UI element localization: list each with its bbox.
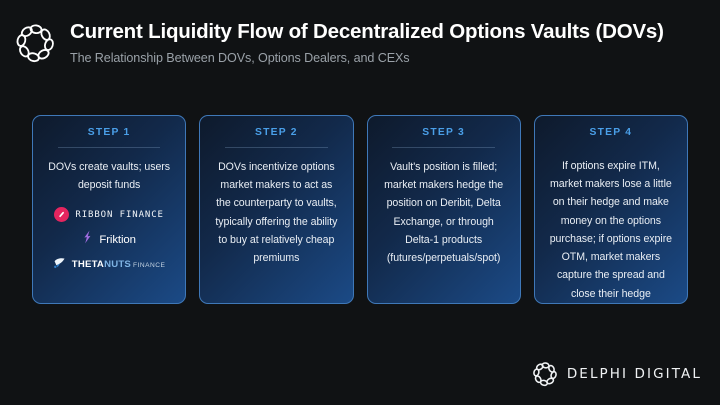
friktion-logo: Friktion	[82, 231, 136, 248]
step-body-text: DOVs create vaults; users deposit funds	[45, 158, 173, 194]
step-body-text: DOVs incentivize options market makers t…	[212, 158, 340, 267]
protocol-logo-list: RIBBON FINANCE Friktion	[45, 206, 173, 273]
ribbon-finance-label: RIBBON FINANCE	[75, 210, 163, 220]
thetanuts-label-bold: THETA	[72, 259, 104, 270]
page-subtitle: The Relationship Between DOVs, Options D…	[70, 51, 664, 65]
footer-brand: DELPHI DIGITAL	[533, 361, 702, 387]
step-card-4: STEP 4 If options expire ITM, market mak…	[534, 115, 688, 304]
page-header: Current Liquidity Flow of Decentralized …	[0, 0, 720, 92]
page-title: Current Liquidity Flow of Decentralized …	[70, 20, 664, 44]
step-card-1: STEP 1 DOVs create vaults; users deposit…	[32, 115, 186, 304]
header-text-block: Current Liquidity Flow of Decentralized …	[70, 18, 664, 65]
step-label: STEP 4	[589, 127, 632, 147]
card-divider	[392, 147, 495, 148]
footer-brand-label: DELPHI DIGITAL	[567, 366, 702, 382]
step-label: STEP 2	[255, 127, 298, 147]
step-card-2: STEP 2 DOVs incentivize options market m…	[199, 115, 353, 304]
friktion-label: Friktion	[99, 234, 136, 246]
step-body-text: Vault's position is filled; market maker…	[380, 158, 508, 267]
card-divider	[225, 147, 328, 148]
thetanuts-label: THETANUTSFINANCE	[72, 259, 166, 270]
step-label: STEP 1	[88, 127, 131, 147]
delphi-ring-icon	[533, 361, 558, 387]
step-body-text: If options expire ITM, market makers los…	[547, 157, 675, 303]
friktion-bolt-icon	[82, 230, 93, 249]
step-card-row: STEP 1 DOVs create vaults; users deposit…	[32, 115, 688, 304]
ribbon-mark-icon	[54, 207, 69, 222]
step-card-3: STEP 3 Vault's position is filled; marke…	[367, 115, 521, 304]
thetanuts-label-accent: NUTS	[104, 259, 131, 270]
card-divider	[58, 147, 161, 148]
thetanuts-label-small: FINANCE	[133, 262, 165, 269]
ribbon-finance-logo: RIBBON FINANCE	[54, 206, 163, 223]
thetanuts-mark-icon	[53, 256, 66, 274]
step-label: STEP 3	[422, 127, 465, 147]
delphi-ring-icon	[16, 22, 56, 64]
thetanuts-finance-logo: THETANUTSFINANCE	[53, 256, 166, 273]
